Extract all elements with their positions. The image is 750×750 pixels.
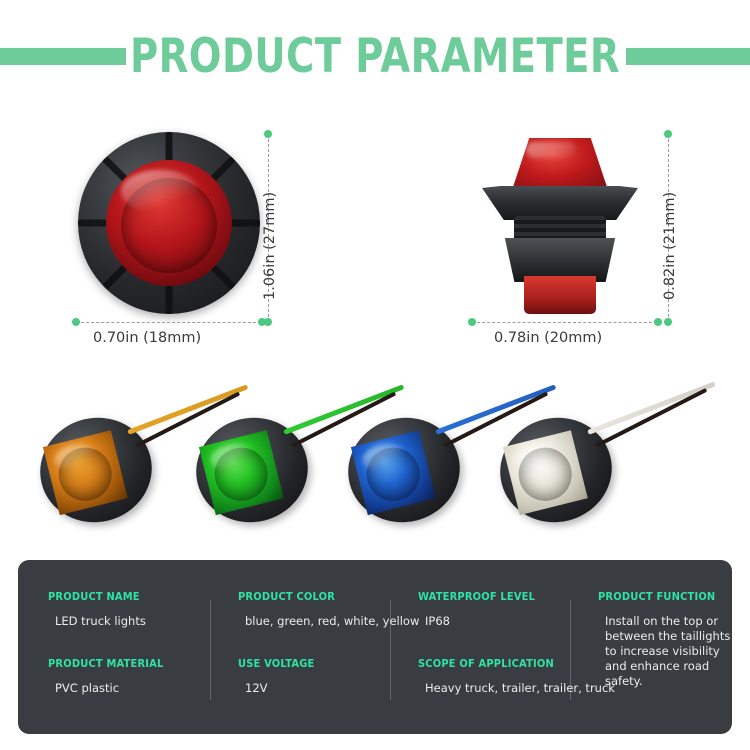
- dimension-label-height: 0.82in (21mm): [662, 192, 678, 300]
- dimension-endpoint-dot: [468, 318, 476, 326]
- spec-label-scope-of-application: SCOPE OF APPLICATION: [418, 657, 571, 670]
- spec-label-product-name: PRODUCT NAME: [48, 590, 206, 603]
- specification-panel: PRODUCT NAME LED truck lights PRODUCT MA…: [18, 560, 732, 734]
- led-flange: [482, 186, 638, 220]
- spec-value-product-material: PVC plastic: [48, 681, 223, 696]
- page-title: PRODUCT PARAMETER: [68, 28, 683, 86]
- spec-value-waterproof-level: IP68: [418, 614, 588, 629]
- spec-column-1: PRODUCT NAME LED truck lights PRODUCT MA…: [48, 590, 223, 696]
- led-base-red: [524, 276, 596, 314]
- dimension-endpoint-dot: [72, 318, 80, 326]
- dimension-endpoint-dot: [654, 318, 662, 326]
- dimension-line-horizontal: [472, 322, 662, 323]
- spec-value-product-name: LED truck lights: [48, 614, 223, 629]
- dimension-line-horizontal: [76, 322, 266, 323]
- led-light-front-red: [78, 132, 260, 314]
- spec-column-4: PRODUCT FUNCTION Install on the top or b…: [598, 590, 728, 689]
- led-light-green: [196, 418, 308, 522]
- spec-column-2: PRODUCT COLOR blue, green, red, white, y…: [238, 590, 413, 696]
- dimension-endpoint-dot: [664, 318, 672, 326]
- spec-label-use-voltage: USE VOLTAGE: [238, 657, 396, 670]
- spec-value-product-function: Install on the top or between the tailli…: [598, 614, 733, 689]
- spec-column-3: WATERPROOF LEVEL IP68 SCOPE OF APPLICATI…: [418, 590, 588, 696]
- dimension-label-height: 1.06in (27mm): [262, 192, 278, 300]
- led-lens-red: [106, 160, 232, 286]
- led-light-blue: [348, 418, 460, 522]
- led-light-amber: [40, 418, 152, 522]
- spec-label-waterproof-level: WATERPROOF LEVEL: [418, 590, 571, 603]
- spec-label-product-color: PRODUCT COLOR: [238, 590, 396, 603]
- dimension-endpoint-dot: [264, 130, 272, 138]
- led-light-white: [500, 418, 612, 522]
- led-light-side-red: [470, 138, 650, 313]
- dimension-endpoint-dot: [258, 318, 266, 326]
- dimension-label-width: 0.70in (18mm): [93, 330, 201, 346]
- spec-label-product-material: PRODUCT MATERIAL: [48, 657, 206, 670]
- dimension-endpoint-dot: [664, 130, 672, 138]
- spec-value-use-voltage: 12V: [238, 681, 413, 696]
- spec-label-product-function: PRODUCT FUNCTION: [598, 590, 715, 603]
- wire-white: [587, 381, 716, 434]
- dimension-label-width: 0.78in (20mm): [494, 330, 602, 346]
- page-header: PRODUCT PARAMETER: [0, 28, 750, 90]
- spec-value-product-color: blue, green, red, white, yellow: [238, 614, 413, 629]
- spec-value-scope-of-application: Heavy truck, trailer, trailer, truck: [418, 681, 588, 696]
